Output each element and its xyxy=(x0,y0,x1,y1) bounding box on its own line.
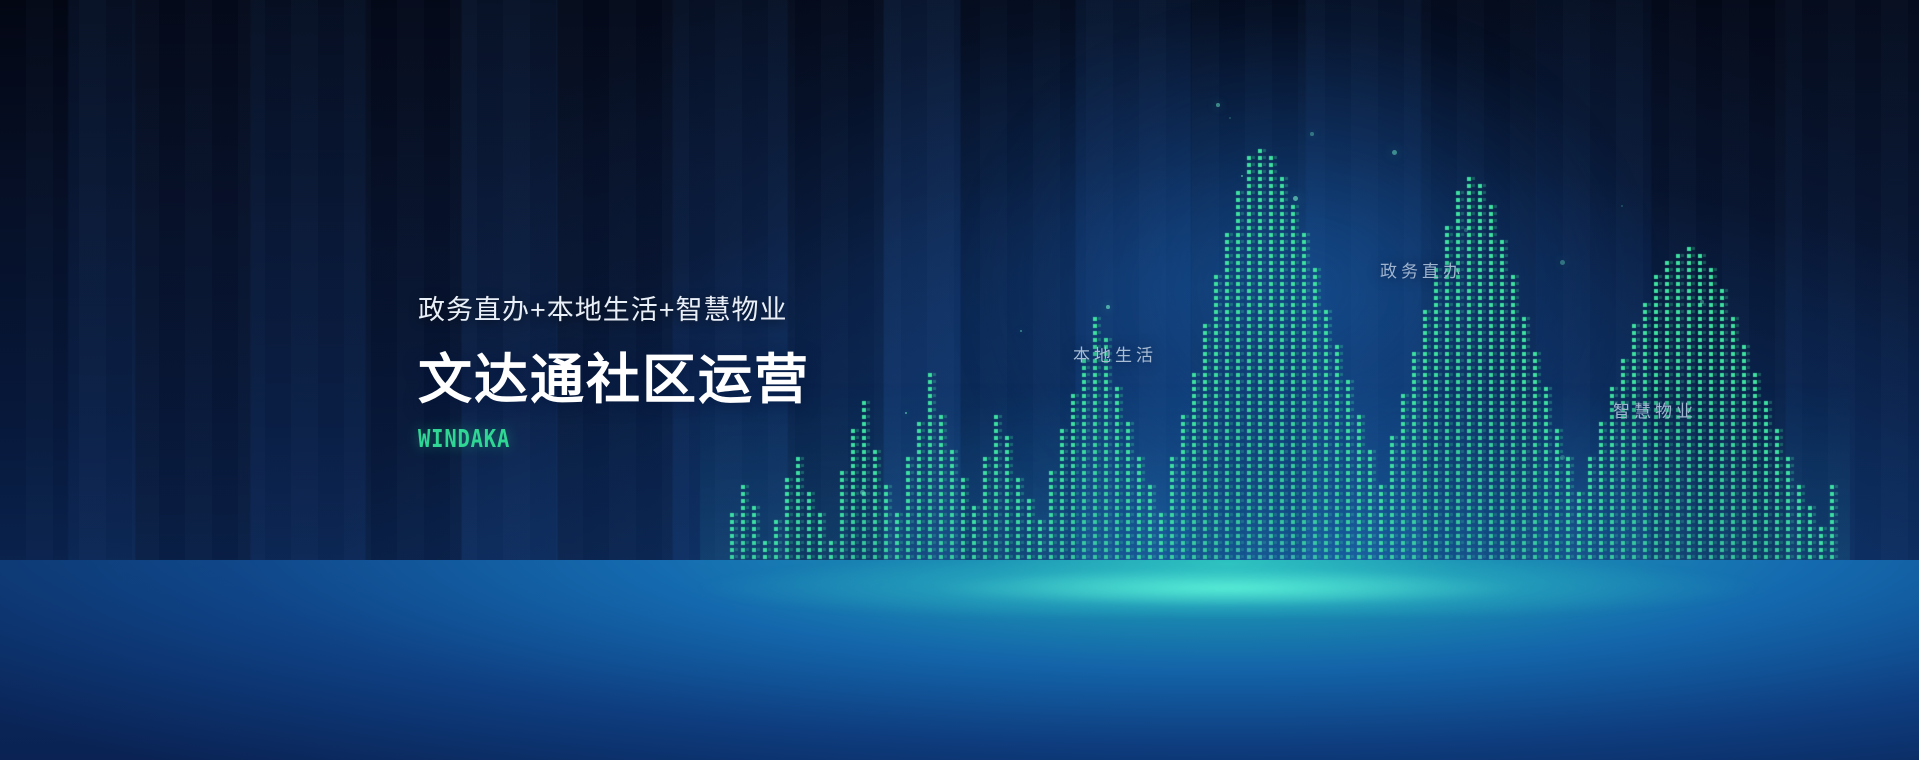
sparkle-dot xyxy=(1660,430,1662,432)
banner-title: 文达通社区运营 xyxy=(418,335,810,414)
hero-text-block: 政务直办+本地生活+智慧物业 文达通社区运营 WINDAKA xyxy=(418,288,810,453)
sparkle-dot xyxy=(1621,205,1623,207)
sparkle-dot xyxy=(1241,175,1243,177)
perspective-floor xyxy=(0,560,1919,760)
sparkle-dot xyxy=(1229,117,1231,119)
sparkle-dot xyxy=(1020,330,1022,332)
sparkle-dot xyxy=(1464,228,1468,232)
sparkle-dot xyxy=(1310,132,1314,136)
sparkle-dot xyxy=(905,412,907,414)
horizon-glow xyxy=(0,560,1919,616)
category-label-2: 本地生活 xyxy=(1073,341,1157,366)
category-label-1: 政务直办 xyxy=(1380,257,1464,282)
sparkle-dot xyxy=(1106,305,1110,309)
sparkle-dot xyxy=(1216,103,1220,107)
brand-wordmark: WINDAKA xyxy=(418,424,739,453)
category-label-3: 智慧物业 xyxy=(1613,397,1697,422)
hero-banner: 政务直办+本地生活+智慧物业 文达通社区运营 WINDAKA 政务直办本地生活智… xyxy=(0,0,1919,760)
banner-subtitle: 政务直办+本地生活+智慧物业 xyxy=(418,288,810,327)
sparkle-dot xyxy=(1700,300,1704,304)
